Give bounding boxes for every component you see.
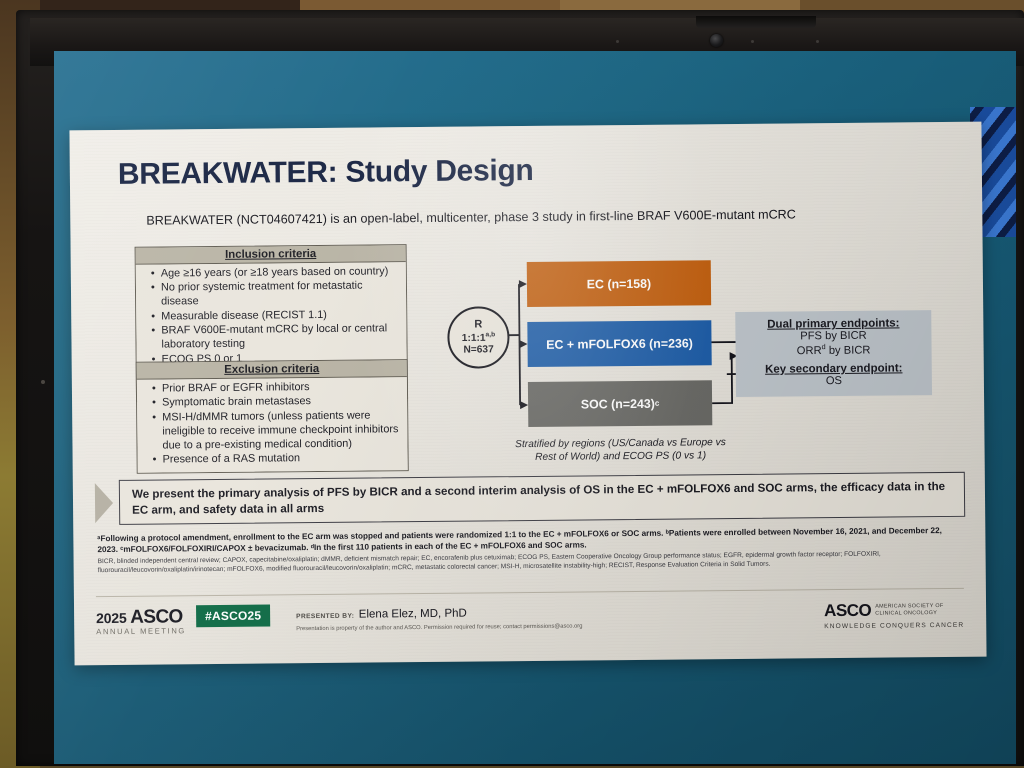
asco-logo: ASCOAMERICAN SOCIETY OFCLINICAL ONCOLOGY… — [824, 600, 964, 630]
page-title: BREAKWATER: Study Design — [118, 154, 534, 192]
screen: BREAKWATER: Study Design BREAKWATER (NCT… — [54, 51, 1016, 764]
arm-ec-mfolfox6: EC + mFOLFOX6 (n=236) — [527, 320, 711, 367]
secondary-endpoint-heading: Key secondary endpoint: — [742, 362, 926, 376]
presenter-block: PRESENTED BY: Elena Elez, MD, PhD Presen… — [296, 602, 582, 632]
asco-wordmark: ASCO — [824, 601, 871, 621]
asco-tagline: KNOWLEDGE CONQUERS CANCER — [824, 622, 964, 630]
arm-soc-superscript: c — [655, 399, 660, 408]
primary-endpoint-item: ORRd by BICR — [742, 341, 926, 357]
bezel-sensor-dot — [751, 40, 754, 43]
asco-annual-meeting-logo: 2025 ASCO ANNUAL MEETING — [96, 607, 186, 635]
statement-callout: We present the primary analysis of PFS b… — [95, 472, 967, 525]
randomization-label: R — [474, 318, 482, 331]
exclusion-criteria-body: Prior BRAF or EGFR inhibitors Symptomati… — [137, 377, 408, 472]
slide-subtitle: BREAKWATER (NCT04607421) is an open-labe… — [146, 207, 796, 227]
laptop-hinge — [696, 16, 816, 28]
randomization-ratio-superscript: a,b — [486, 331, 496, 338]
exclusion-criteria-box: Exclusion criteria Prior BRAF or EGFR in… — [136, 359, 409, 473]
footer-divider — [96, 588, 964, 597]
bezel-sensor-dot — [616, 40, 619, 43]
slide-footer: 2025 ASCO ANNUAL MEETING #ASCO25 PRESENT… — [96, 596, 964, 648]
bezel-sensor-dot — [816, 40, 819, 43]
asco-society-name: AMERICAN SOCIETY OFCLINICAL ONCOLOGY — [875, 603, 943, 617]
list-item: Presence of a RAS mutation — [156, 451, 402, 467]
list-item: No prior systemic treatment for metastat… — [154, 280, 400, 310]
list-item: MSI-H/dMMR tumors (unless patients were … — [155, 409, 401, 453]
randomization-node: R 1:1:1a,b N=637 — [447, 306, 510, 369]
arm-ec: EC (n=158) — [527, 260, 711, 307]
bezel-sensor-dot — [41, 380, 45, 384]
arrow-icon — [95, 483, 113, 523]
meeting-brand: ASCO — [130, 606, 183, 628]
stratification-note: Stratified by regions (US/Canada vs Euro… — [504, 436, 736, 465]
arm-soc: SOC (n=243)c — [528, 380, 712, 427]
list-item: BRAF V600E-mutant mCRC by local or centr… — [154, 323, 400, 353]
secondary-endpoint-item: OS — [742, 374, 926, 388]
laptop: BREAKWATER: Study Design BREAKWATER (NCT… — [6, 4, 1024, 768]
randomization-ratio: 1:1:1a,b — [462, 331, 496, 345]
meeting-subtitle: ANNUAL MEETING — [96, 627, 186, 635]
meeting-year: 2025 — [96, 610, 127, 626]
primary-endpoints-heading: Dual primary endpoints: — [741, 317, 925, 331]
webcam-icon — [710, 34, 723, 47]
presented-by-label: PRESENTED BY: — [296, 613, 354, 621]
statement-text: We present the primary analysis of PFS b… — [119, 472, 965, 525]
hashtag-badge: #ASCO25 — [196, 604, 270, 627]
presentation-slide: BREAKWATER: Study Design BREAKWATER (NCT… — [69, 122, 986, 666]
presenter-name: Elena Elez, MD, PhD — [359, 608, 467, 621]
permission-notice: Presentation is property of the author a… — [296, 623, 582, 632]
randomization-total: N=637 — [463, 344, 493, 356]
endpoints-panel: Dual primary endpoints: PFS by BICR ORRd… — [735, 310, 932, 397]
